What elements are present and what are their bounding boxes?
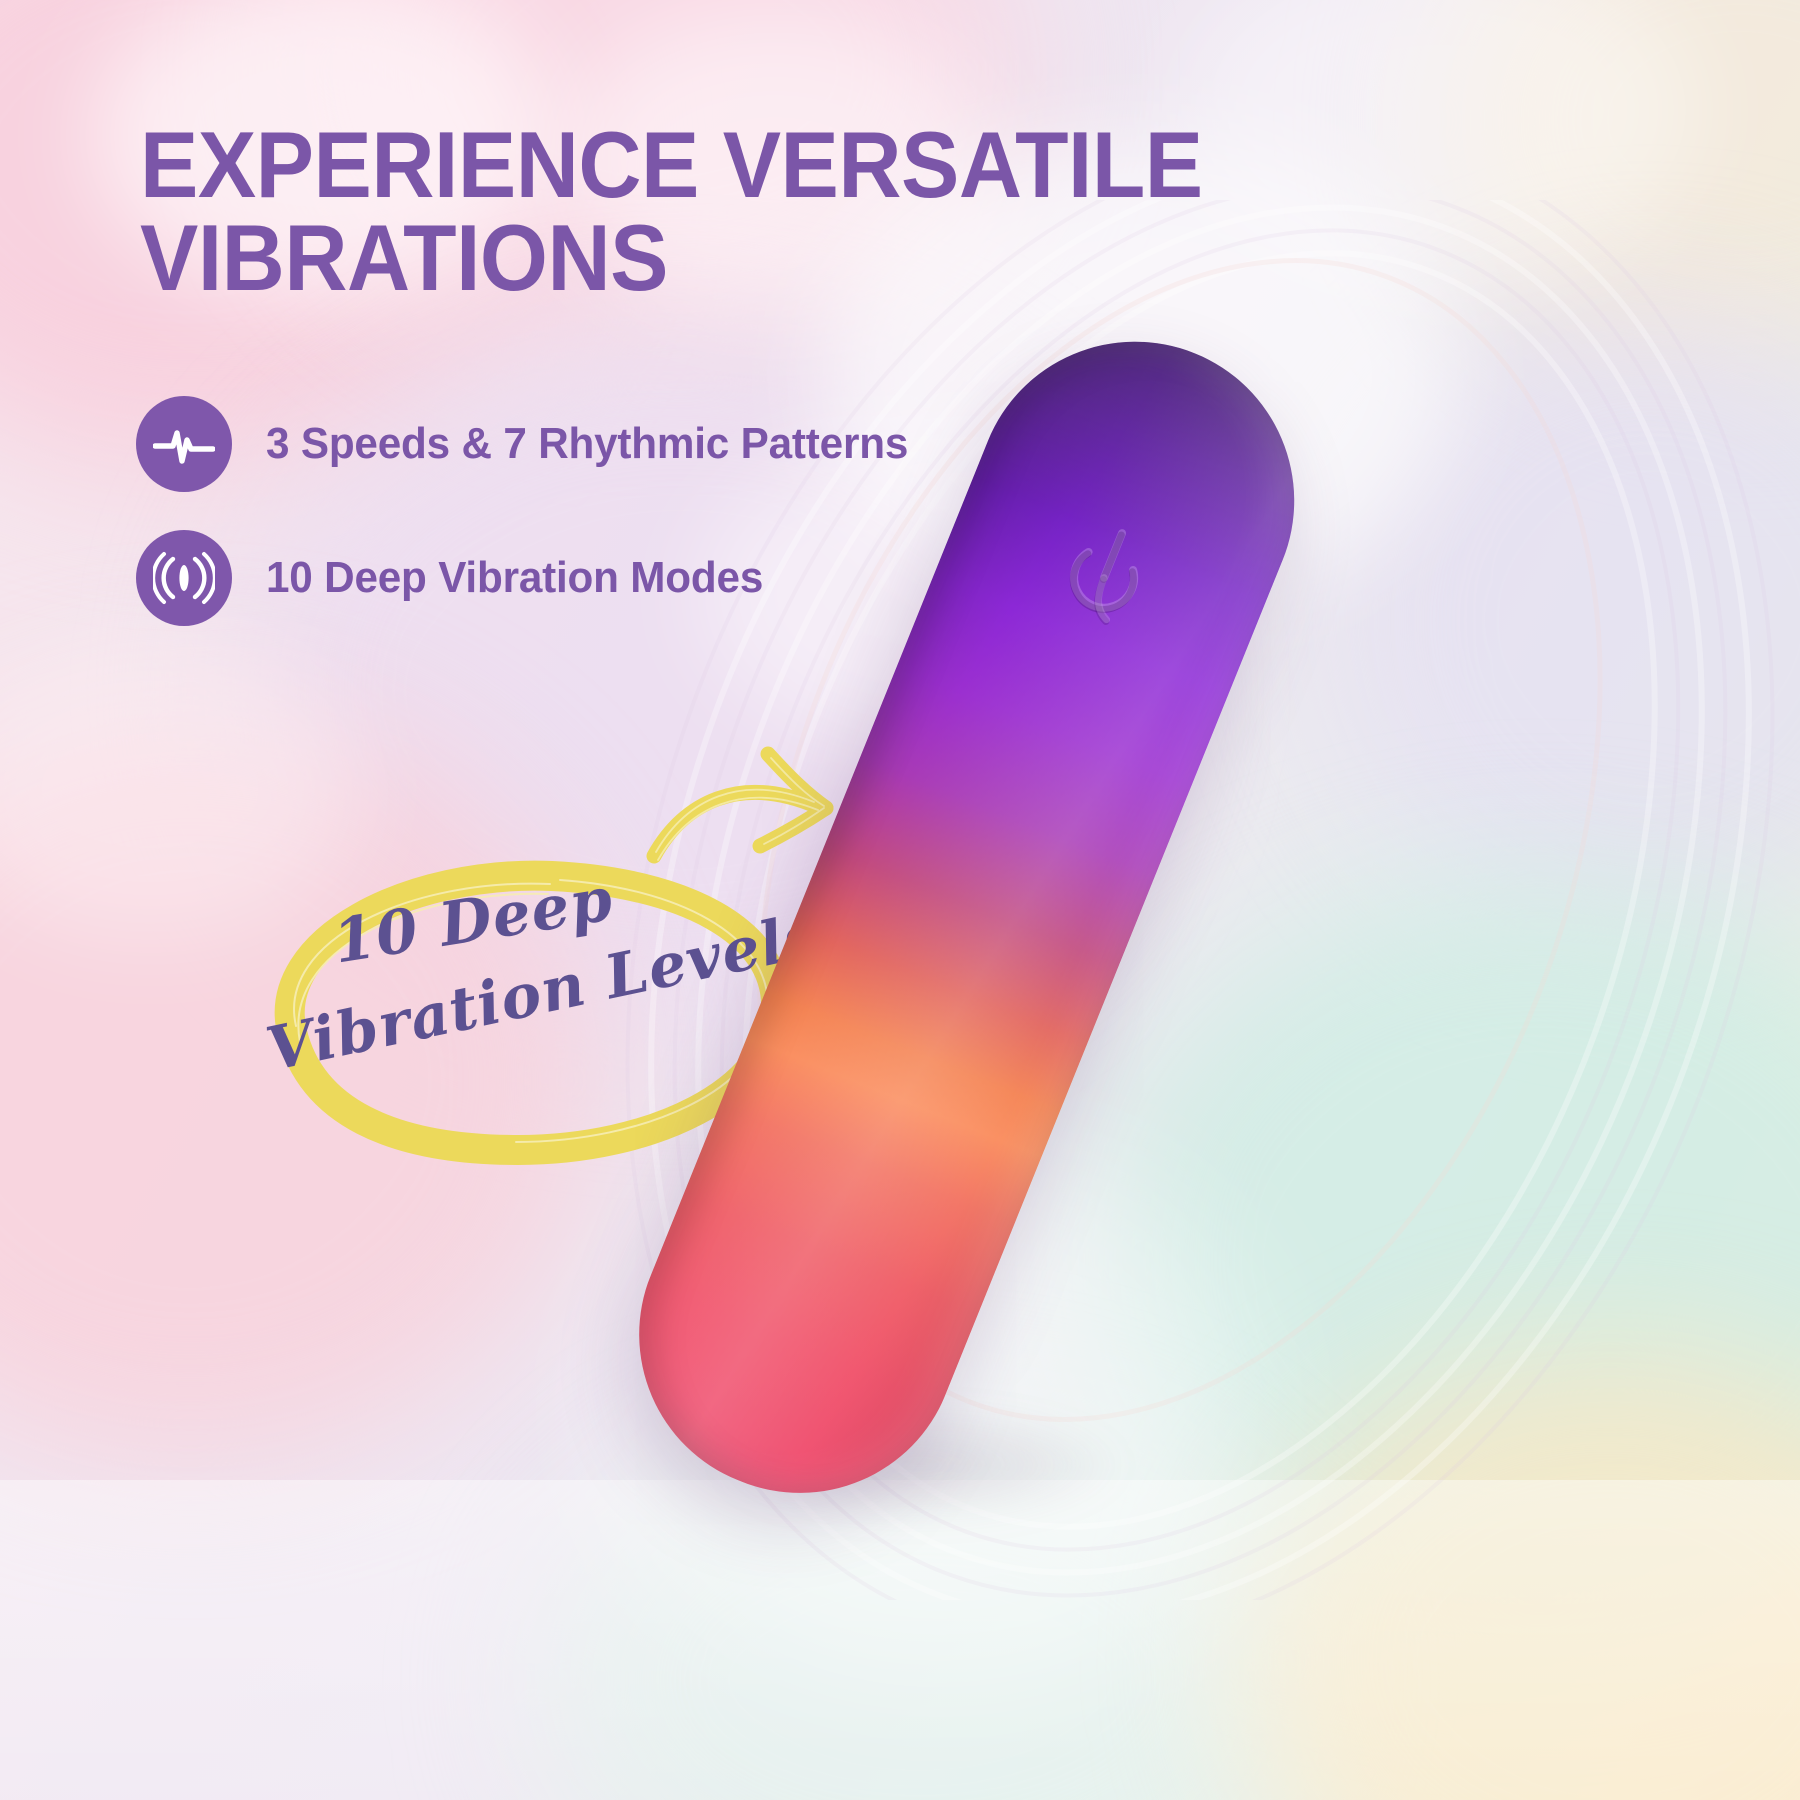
- promo-banner: EXPERIENCE VERSATILE VIBRATIONS 3 Speeds…: [0, 0, 1800, 1800]
- bullet-vibrator-body: [592, 294, 1342, 1541]
- pulse-wave-icon: [136, 396, 232, 492]
- vibration-waves-icon: [136, 530, 232, 626]
- product-image: [690, 275, 1470, 1565]
- feature-item-label: 10 Deep Vibration Modes: [266, 553, 763, 603]
